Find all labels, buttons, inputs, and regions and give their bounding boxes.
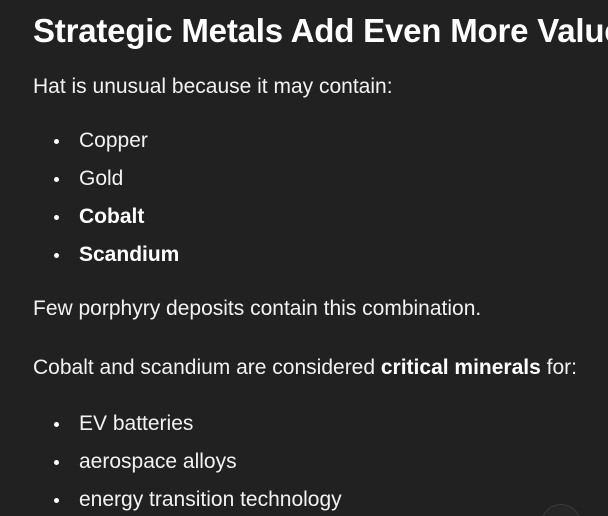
critical-line-after: for: <box>541 356 577 379</box>
bullet-dot-icon <box>54 422 59 427</box>
spacer <box>33 274 604 296</box>
bullet-dot-icon <box>54 139 59 144</box>
spacer <box>33 322 604 355</box>
critical-line-emphasis: critical minerals <box>381 356 541 379</box>
list-item-label: energy transition technology <box>79 488 342 511</box>
list-item-label: EV batteries <box>79 412 193 435</box>
spacer <box>33 52 604 74</box>
bullet-dot-icon <box>54 177 59 182</box>
list-item: aerospace alloys <box>33 443 604 481</box>
list-item: EV batteries <box>33 405 604 443</box>
bullet-dot-icon <box>54 460 59 465</box>
list-item: Gold <box>33 160 604 198</box>
slide-canvas: Strategic Metals Add Even More Value Hat… <box>0 0 608 516</box>
list-item-label: Cobalt <box>79 205 144 228</box>
note-paragraph: Few porphyry deposits contain this combi… <box>33 296 604 322</box>
list-item-label: Gold <box>79 167 123 190</box>
uses-list: EV batteries aerospace alloys energy tra… <box>33 405 604 516</box>
bullet-dot-icon <box>54 215 59 220</box>
bullet-dot-icon <box>54 253 59 258</box>
spacer <box>33 100 604 122</box>
list-item-label: Copper <box>79 129 148 152</box>
list-item-label: aerospace alloys <box>79 450 237 473</box>
critical-line-before: Cobalt and scandium are considered <box>33 356 381 379</box>
critical-minerals-paragraph: Cobalt and scandium are considered criti… <box>33 355 604 381</box>
slide-content: Strategic Metals Add Even More Value Hat… <box>33 10 604 516</box>
list-item: Cobalt <box>33 198 604 236</box>
list-item: Copper <box>33 122 604 160</box>
bullet-dot-icon <box>54 498 59 503</box>
list-item-label: Scandium <box>79 243 179 266</box>
spacer <box>33 381 604 405</box>
metals-list: Copper Gold Cobalt Scandium <box>33 122 604 274</box>
page-title: Strategic Metals Add Even More Value <box>33 10 604 52</box>
list-item: energy transition technology <box>33 481 604 516</box>
list-item: Scandium <box>33 236 604 274</box>
intro-paragraph: Hat is unusual because it may contain: <box>33 74 604 100</box>
